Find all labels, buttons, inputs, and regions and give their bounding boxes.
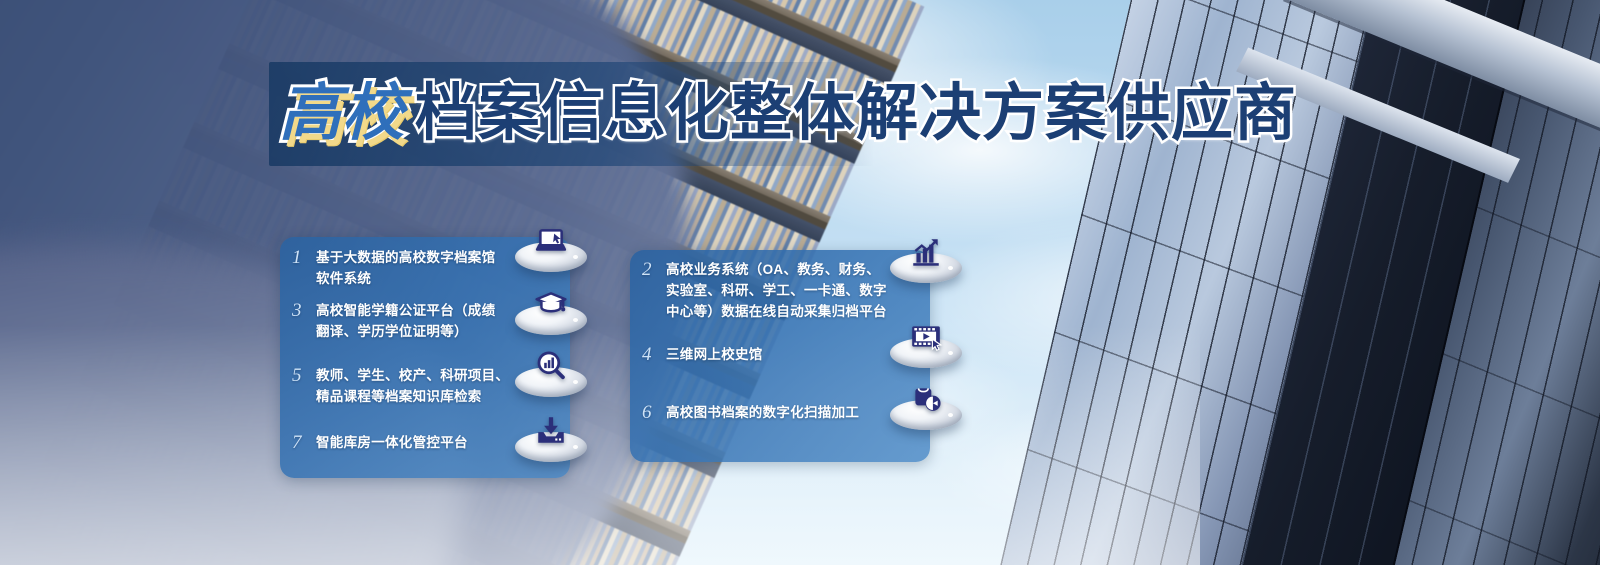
search-chart-icon [515,357,587,405]
item-number: 6 [642,402,656,423]
item-number: 7 [292,432,306,453]
page-title: 高校档案信息化整体解决方案供应商 [279,64,1297,164]
item-number: 3 [292,300,306,321]
item-label: 高校业务系统（OA、教务、财务、 实验室、科研、学工、一卡通、数字 中心等）数据… [666,259,887,322]
item-label: 基于大数据的高校数字档案馆 软件系统 [316,247,495,289]
bar-chart-trend-icon [890,243,962,291]
hero-banner: 高校档案信息化整体解决方案供应商 1 基于大数据的高校数字档案馆 软件系统 3 … [0,0,1600,565]
item-label: 三维网上校史馆 [666,344,763,365]
laptop-cursor-icon [515,232,587,280]
item-label: 高校图书档案的数字化扫描加工 [666,402,859,423]
list-item[interactable]: 6 高校图书档案的数字化扫描加工 [642,402,892,423]
scanner-icon [890,390,962,438]
list-item[interactable]: 3 高校智能学籍公证平台（成绩 翻译、学历学位证明等） [292,300,507,342]
item-number: 4 [642,344,656,365]
list-item[interactable]: 2 高校业务系统（OA、教务、财务、 实验室、科研、学工、一卡通、数字 中心等）… [642,259,894,322]
list-item[interactable]: 4 三维网上校史馆 [642,344,882,365]
list-item[interactable]: 7 智能库房一体化管控平台 [292,432,507,453]
title-rest: 档案信息化整体解决方案供应商 [415,79,1297,148]
item-label: 教师、学生、校产、科研项目、 精品课程等档案知识库检索 [316,365,509,407]
item-label: 智能库房一体化管控平台 [316,432,468,453]
item-number: 2 [642,259,656,280]
item-number: 5 [292,365,306,386]
graduation-cap-icon [515,295,587,343]
list-item[interactable]: 1 基于大数据的高校数字档案馆 软件系统 [292,247,507,289]
item-number: 1 [292,247,306,268]
download-inbox-icon [515,422,587,470]
title-highlight: 高校 [279,79,405,148]
list-item[interactable]: 5 教师、学生、校产、科研项目、 精品课程等档案知识库检索 [292,365,512,407]
video-play-cursor-icon [890,328,962,376]
item-label: 高校智能学籍公证平台（成绩 翻译、学历学位证明等） [316,300,495,342]
